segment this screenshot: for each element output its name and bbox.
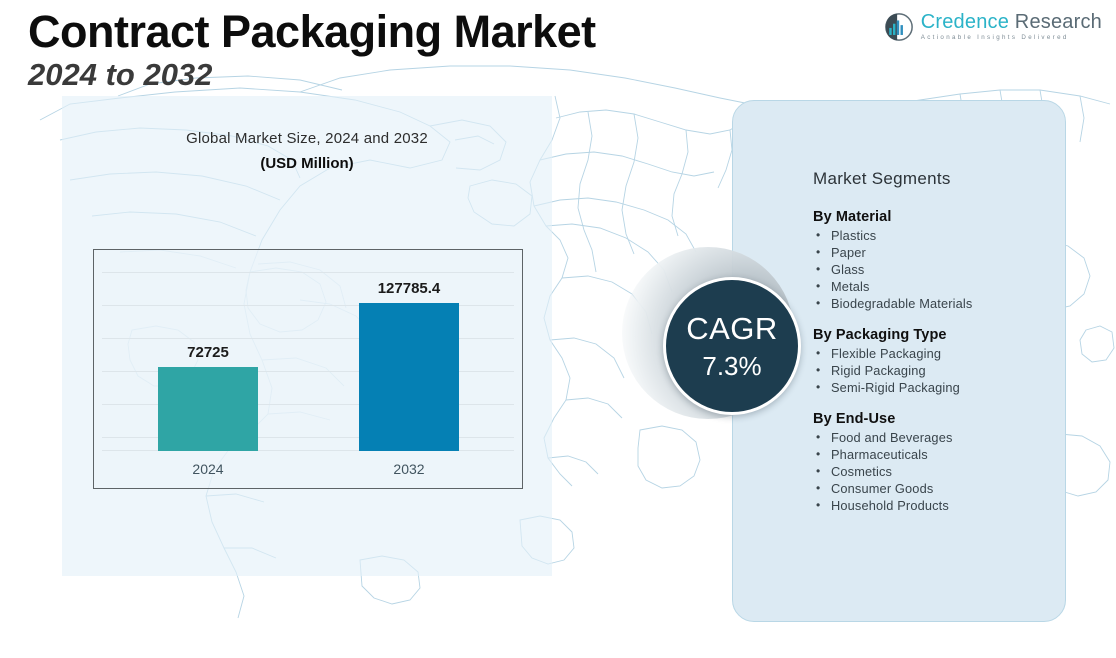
bar-rect-2024	[158, 367, 258, 451]
list-item: Flexible Packaging	[813, 345, 1065, 362]
bar-chart-circle-icon	[884, 12, 914, 42]
segment-group-title: By Packaging Type	[813, 327, 1065, 343]
list-item: Rigid Packaging	[813, 362, 1065, 379]
segment-group-by-material: By Material Plastics Paper Glass Metals …	[813, 209, 1065, 312]
cagr-value: 7.3%	[702, 353, 761, 379]
cagr-label: CAGR	[686, 313, 778, 344]
segment-group-by-end-use: By End-Use Food and Beverages Pharmaceut…	[813, 411, 1065, 514]
chart-subtitle: (USD Million)	[62, 155, 552, 172]
list-item: Pharmaceuticals	[813, 446, 1065, 463]
bar-value-2032: 127785.4	[378, 280, 441, 297]
chart-plot-area: 72725 2024 127785.4 2032	[94, 250, 522, 488]
list-item: Cosmetics	[813, 463, 1065, 480]
segments-heading: Market Segments	[813, 169, 1065, 189]
segment-group-title: By Material	[813, 209, 1065, 225]
segment-group-title: By End-Use	[813, 411, 1065, 427]
page-header: Contract Packaging Market 2024 to 2032	[28, 8, 596, 93]
logo-text-block: Credence Research Actionable Insights De…	[921, 12, 1102, 41]
list-item: Household Products	[813, 497, 1065, 514]
list-item: Metals	[813, 278, 1065, 295]
list-item: Biodegradable Materials	[813, 295, 1065, 312]
segment-list: Plastics Paper Glass Metals Biodegradabl…	[813, 227, 1065, 312]
page-subtitle: 2024 to 2032	[28, 57, 596, 93]
cagr-badge: CAGR 7.3%	[622, 247, 822, 447]
segment-list: Flexible Packaging Rigid Packaging Semi-…	[813, 345, 1065, 396]
bar-2024[interactable]: 72725 2024	[158, 367, 258, 451]
bar-label-2024: 2024	[192, 461, 223, 477]
list-item: Consumer Goods	[813, 480, 1065, 497]
bar-label-2032: 2032	[393, 461, 424, 477]
bar-value-2024: 72725	[187, 344, 229, 361]
list-item: Plastics	[813, 227, 1065, 244]
bar-chart: 72725 2024 127785.4 2032	[93, 249, 523, 489]
cagr-circle: CAGR 7.3%	[663, 277, 801, 415]
chart-title: Global Market Size, 2024 and 2032	[62, 130, 552, 147]
list-item: Food and Beverages	[813, 429, 1065, 446]
bar-2032[interactable]: 127785.4 2032	[359, 303, 459, 451]
market-size-chart-panel: Global Market Size, 2024 and 2032 (USD M…	[62, 96, 552, 576]
list-item: Glass	[813, 261, 1065, 278]
brand-logo[interactable]: Credence Research Actionable Insights De…	[884, 12, 1102, 42]
logo-name-accent: Credence	[921, 11, 1009, 33]
bar-rect-2032	[359, 303, 459, 451]
segment-list: Food and Beverages Pharmaceuticals Cosme…	[813, 429, 1065, 514]
segment-group-by-packaging-type: By Packaging Type Flexible Packaging Rig…	[813, 327, 1065, 396]
list-item: Paper	[813, 244, 1065, 261]
logo-name-rest: Research	[1009, 11, 1102, 33]
page-title: Contract Packaging Market	[28, 8, 596, 55]
list-item: Semi-Rigid Packaging	[813, 379, 1065, 396]
logo-company-name: Credence Research	[921, 11, 1102, 33]
logo-tagline: Actionable Insights Delivered	[921, 35, 1102, 41]
